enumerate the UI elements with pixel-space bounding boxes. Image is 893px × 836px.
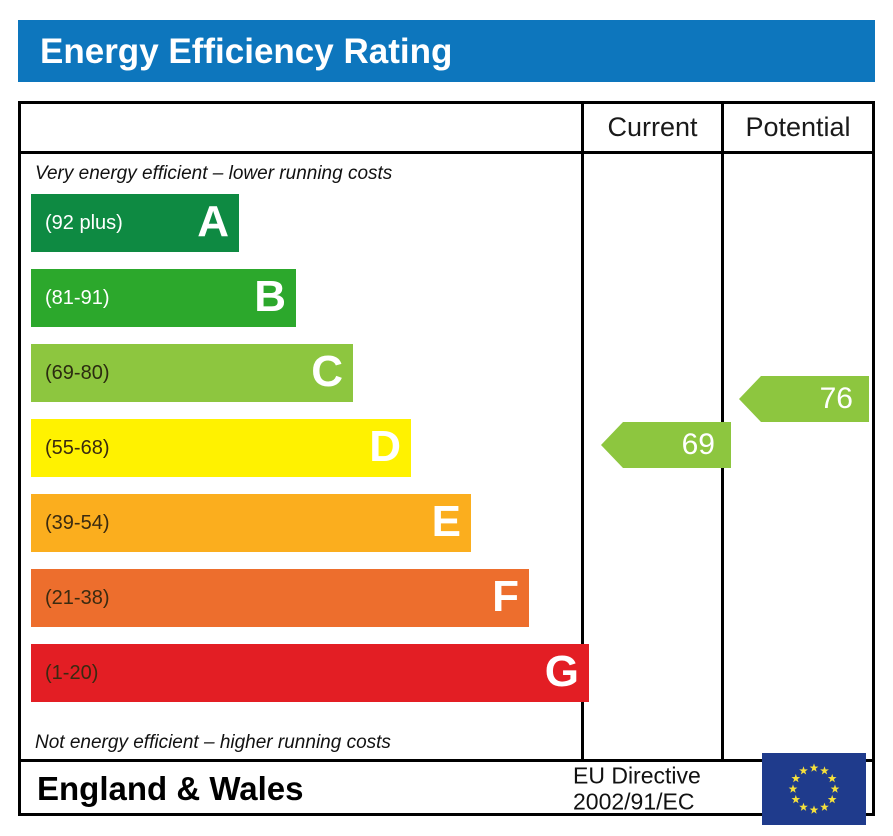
band-letter-label: D — [369, 425, 401, 469]
band-range-label: (69-80) — [31, 362, 109, 385]
band-range-label: (92 plus) — [31, 212, 123, 235]
footer-row: England & Wales EU Directive 2002/91/EC — [21, 762, 872, 816]
rating-arrow-current-value: 69 — [682, 428, 715, 462]
rating-grid: Current Potential Very energy efficient … — [18, 101, 875, 816]
bands-area: Very energy efficient – lower running co… — [21, 154, 872, 762]
caption-inefficient: Not energy efficient – higher running co… — [35, 732, 391, 754]
band-letter-label: A — [197, 200, 229, 244]
band-range-label: (81-91) — [31, 287, 109, 310]
rating-band-d: (55-68)D — [31, 419, 411, 477]
eu-flag-icon — [762, 753, 866, 825]
column-header-potential-label: Potential — [745, 112, 850, 143]
band-letter-label: G — [545, 650, 579, 694]
footer-directive-line2: 2002/91/EC — [573, 789, 701, 815]
epc-certificate: Energy Efficiency Rating Current Potenti… — [0, 0, 893, 836]
footer-region-label: England & Wales — [37, 770, 303, 808]
band-range-label: (55-68) — [31, 437, 109, 460]
rating-band-a: (92 plus)A — [31, 194, 239, 252]
rating-band-e: (39-54)E — [31, 494, 471, 552]
column-header-potential: Potential — [721, 104, 872, 151]
rating-arrow-current: 69 — [601, 422, 731, 468]
band-letter-label: F — [492, 575, 519, 619]
band-letter-label: B — [254, 275, 286, 319]
column-header-current: Current — [581, 104, 721, 151]
rating-band-f: (21-38)F — [31, 569, 529, 627]
band-range-label: (21-38) — [31, 587, 109, 610]
rating-band-c: (69-80)C — [31, 344, 353, 402]
column-header-row: Current Potential — [21, 104, 872, 154]
band-range-label: (1-20) — [31, 662, 98, 685]
footer-directive: EU Directive 2002/91/EC — [573, 763, 701, 815]
chart-title-banner: Energy Efficiency Rating — [18, 20, 875, 82]
band-range-label: (39-54) — [31, 512, 109, 535]
page-title: Energy Efficiency Rating — [18, 34, 452, 69]
band-letter-label: C — [311, 350, 343, 394]
rating-arrow-potential-value: 76 — [820, 382, 853, 416]
footer-directive-line1: EU Directive — [573, 763, 701, 789]
column-header-current-label: Current — [607, 112, 697, 143]
rating-arrow-potential: 76 — [739, 376, 869, 422]
rating-band-b: (81-91)B — [31, 269, 296, 327]
rating-band-g: (1-20)G — [31, 644, 589, 702]
caption-efficient: Very energy efficient – lower running co… — [35, 163, 392, 185]
band-letter-label: E — [432, 500, 461, 544]
